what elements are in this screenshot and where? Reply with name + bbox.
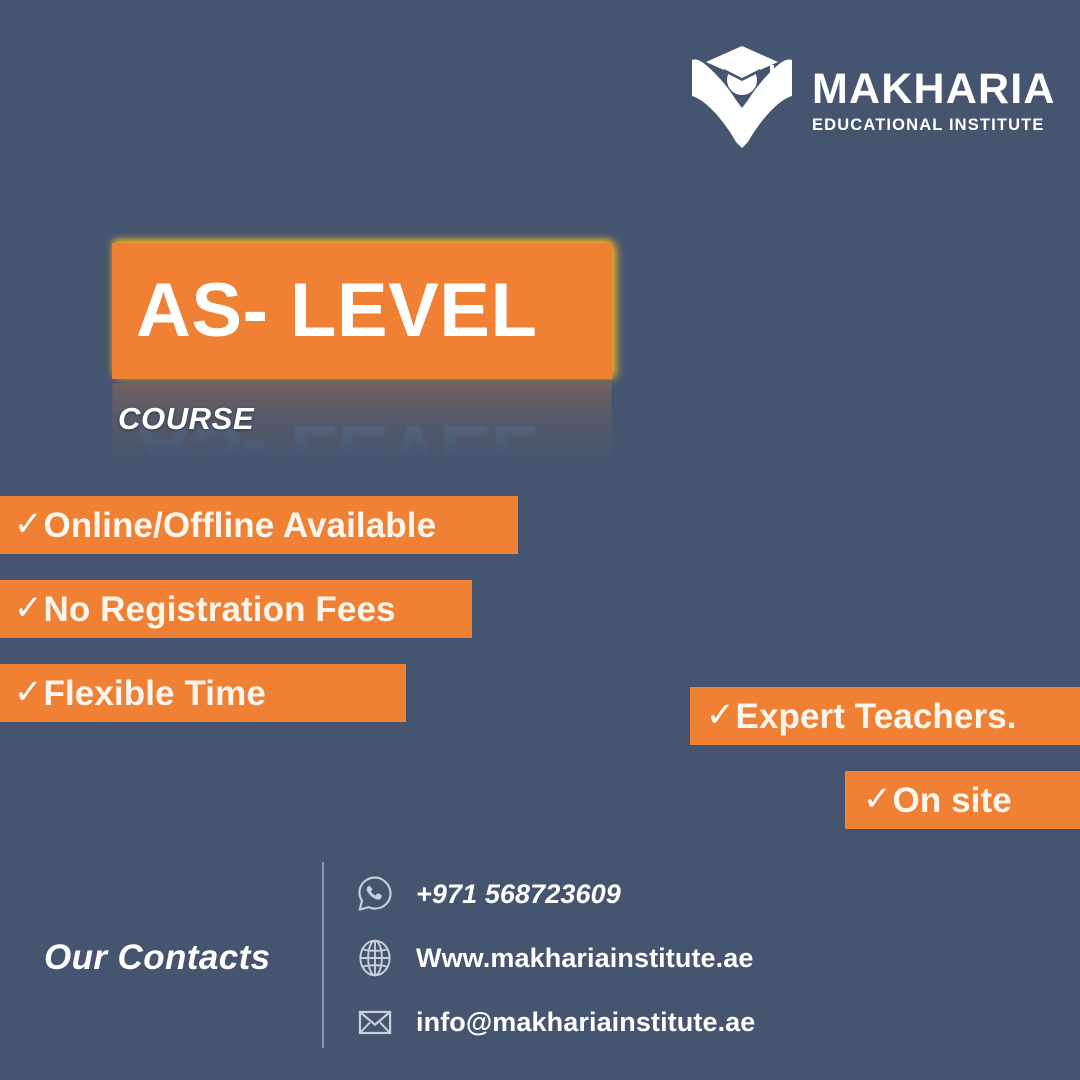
brand-wordmark: MAKHARIA EDUCATIONAL INSTITUTE: [812, 52, 1056, 134]
brand-subtitle: EDUCATIONAL INSTITUTE: [812, 116, 1045, 134]
page-title: AS- LEVEL: [112, 273, 537, 349]
check-icon: ✓: [14, 675, 43, 709]
check-icon: ✓: [14, 591, 43, 625]
globe-icon: [352, 937, 398, 979]
feature-label: Expert Teachers.: [736, 699, 1017, 734]
brand-logo: MAKHARIA EDUCATIONAL INSTITUTE: [686, 38, 1006, 148]
contact-phone-value: +971 568723609: [416, 879, 621, 910]
contact-email-value: info@makhariainstitute.ae: [416, 1007, 755, 1038]
feature-label: On site: [893, 783, 1012, 818]
contacts-heading: Our Contacts: [44, 938, 271, 978]
check-icon: ✓: [863, 782, 892, 816]
feature-label: Flexible Time: [44, 676, 266, 711]
brand-name: MAKHARIA: [812, 68, 1056, 112]
feature-bar-flexible-time: ✓ Flexible Time: [0, 664, 406, 722]
contact-row-phone[interactable]: +971 568723609: [352, 862, 952, 926]
course-subtitle: COURSE: [118, 401, 254, 437]
course-title-block: AS- LEVEL AS- LEVEL COURSE: [112, 243, 612, 463]
course-title-banner: AS- LEVEL: [112, 243, 612, 379]
feature-label: Online/Offline Available: [44, 508, 437, 543]
feature-bar-online-offline: ✓ Online/Offline Available: [0, 496, 518, 554]
contacts-divider: [322, 862, 324, 1048]
poster-canvas: MAKHARIA EDUCATIONAL INSTITUTE AS- LEVEL…: [0, 0, 1080, 1080]
feature-label: No Registration Fees: [44, 592, 396, 627]
contact-row-email[interactable]: info@makhariainstitute.ae: [352, 990, 952, 1054]
feature-bar-expert-teachers: ✓ Expert Teachers.: [690, 687, 1080, 745]
feature-bar-no-registration-fees: ✓ No Registration Fees: [0, 580, 472, 638]
contact-website-value: Www.makhariainstitute.ae: [416, 943, 754, 974]
graduation-cap-book-icon: [686, 38, 798, 148]
whatsapp-icon: [352, 873, 398, 915]
contacts-list: +971 568723609 Www.makhariainstitute.ae: [352, 862, 952, 1054]
envelope-icon: [352, 1001, 398, 1043]
check-icon: ✓: [14, 507, 43, 541]
contact-row-website[interactable]: Www.makhariainstitute.ae: [352, 926, 952, 990]
check-icon: ✓: [706, 698, 735, 732]
feature-bar-on-site: ✓ On site: [845, 771, 1080, 829]
